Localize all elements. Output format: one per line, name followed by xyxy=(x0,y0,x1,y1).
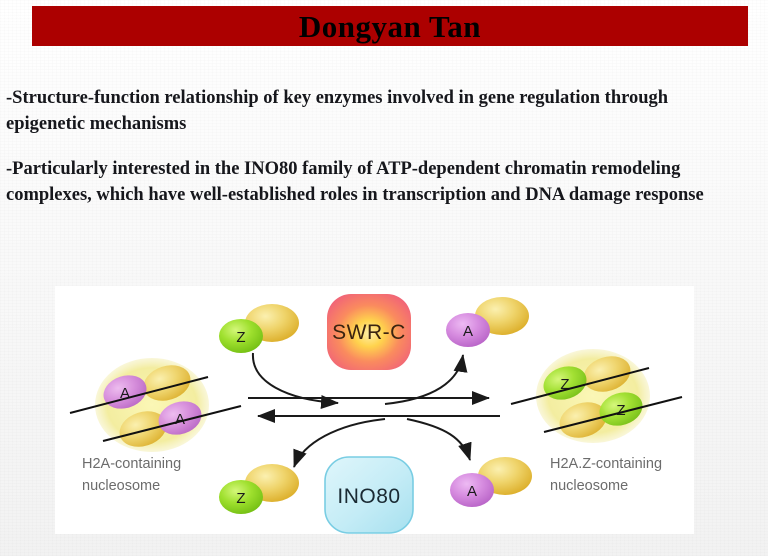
subunit-letter-z-right-2: Z xyxy=(616,402,625,419)
nucleosome-label-right-line1: H2A.Z-containing xyxy=(550,453,662,475)
dimer-z-bottom-left: Z xyxy=(219,464,299,514)
dimer-a-bottom-right: A xyxy=(450,457,532,507)
nucleosome-label-left: H2A-containing nucleosome xyxy=(82,453,181,497)
complex-ino80[interactable]: INO80 xyxy=(325,457,413,533)
nucleosome-label-right-line2: nucleosome xyxy=(550,475,662,497)
nucleosome-h2a: A A xyxy=(70,358,241,453)
nucleosome-h2az: Z Z xyxy=(511,349,682,444)
dimer-letter-a-br: A xyxy=(467,483,477,500)
dimer-letter-z-tl: Z xyxy=(236,329,245,346)
ino80-incoming-curve xyxy=(407,419,470,460)
complex-swrc[interactable]: SWR-C xyxy=(327,294,411,370)
dimer-letter-z-bl: Z xyxy=(236,490,245,507)
dimer-a-top-right: A xyxy=(446,297,529,347)
bullet-paragraph-2: -Particularly interested in the INO80 fa… xyxy=(6,156,746,208)
nucleosome-label-left-line1: H2A-containing xyxy=(82,453,181,475)
subunit-letter-a-left-2: A xyxy=(175,411,185,428)
ino80-label: INO80 xyxy=(337,485,400,508)
bullet-paragraph-1: -Structure-function relationship of key … xyxy=(6,85,746,137)
dimer-z-top-left: Z xyxy=(219,304,299,353)
swrc-incoming-curve xyxy=(253,353,338,403)
nucleosome-label-right: H2A.Z-containing nucleosome xyxy=(550,453,662,497)
nucleosome-exchange-figure: A A Z Z SWR-C INO80 xyxy=(55,286,694,534)
dimer-letter-a-tr: A xyxy=(463,323,473,340)
slide-title-banner: Dongyan Tan xyxy=(32,6,748,46)
swrc-label: SWR-C xyxy=(332,321,406,344)
nucleosome-label-left-line2: nucleosome xyxy=(82,475,181,497)
page-title: Dongyan Tan xyxy=(299,11,481,42)
